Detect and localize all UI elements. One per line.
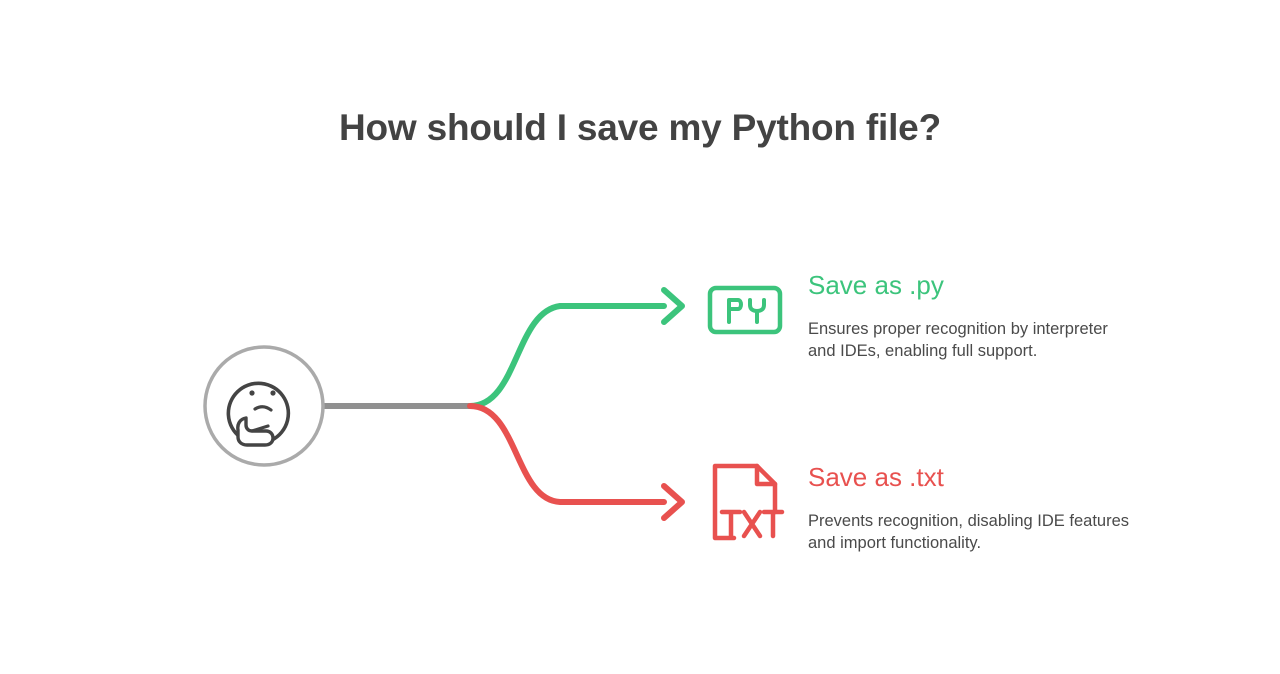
branch-text-txt: Save as .txt Prevents recognition, disab… xyxy=(808,462,1208,554)
branch-heading-txt: Save as .txt xyxy=(808,462,1208,492)
py-badge-frame xyxy=(710,288,780,332)
branch-text-py: Save as .py Ensures proper recognition b… xyxy=(808,270,1208,362)
branch-description-txt-line1: Prevents recognition, disabling IDE feat… xyxy=(808,512,1129,530)
py-file-badge-icon[interactable] xyxy=(710,288,780,332)
txt-letter-t2 xyxy=(764,512,782,536)
face-left-eye-icon xyxy=(249,390,254,395)
txt-file-document-icon[interactable] xyxy=(715,466,782,538)
txt-letter-x xyxy=(744,512,760,536)
branch-line-txt xyxy=(470,406,664,502)
branch-line-py xyxy=(470,306,664,406)
txt-letter-t1 xyxy=(722,512,740,536)
txt-page-outline xyxy=(715,466,775,538)
branch-description-py-line1: Ensures proper recognition by interprete… xyxy=(808,320,1108,338)
branch-heading-py: Save as .py xyxy=(808,270,1208,300)
source-node-thinking-face[interactable] xyxy=(205,347,323,465)
face-right-eye-icon xyxy=(270,390,275,395)
branch-description-txt-line2: and import functionality. xyxy=(808,532,1208,554)
branch-description-py: Ensures proper recognition by interprete… xyxy=(808,300,1208,362)
diagram-canvas: How should I save my Python file? xyxy=(0,0,1280,674)
branch-description-py-line2: and IDEs, enabling full support. xyxy=(808,340,1208,362)
branch-description-txt: Prevents recognition, disabling IDE feat… xyxy=(808,492,1208,554)
